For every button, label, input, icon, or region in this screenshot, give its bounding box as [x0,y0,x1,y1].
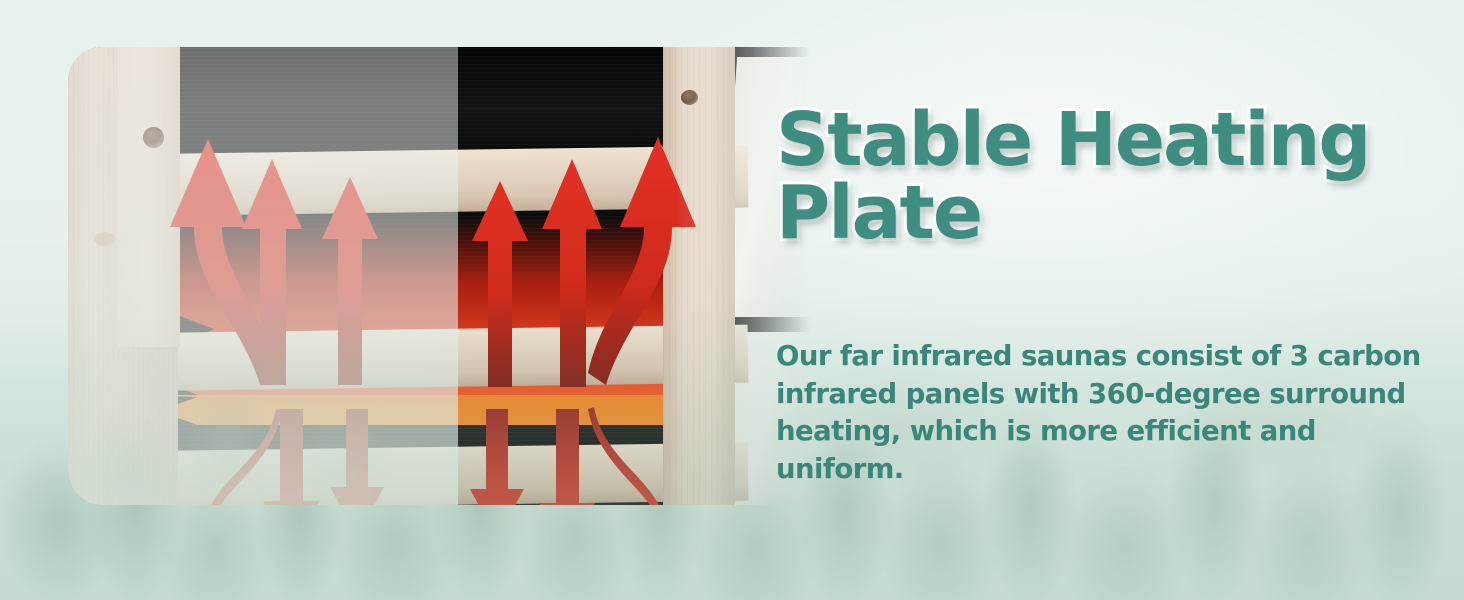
heat-arrow-up-4 [468,177,532,387]
heat-arrow-down-4 [466,409,528,505]
screw-icon-right [681,90,698,105]
body-description: Our far infrared saunas consist of 3 car… [776,338,1444,489]
heat-arrow-up-6 [588,133,718,385]
heat-arrow-up-2 [238,155,308,385]
wood-knot [94,232,116,246]
heat-arrow-down-6 [588,407,714,505]
heat-arrow-up-3 [318,173,382,385]
headline-line-2: Plate [776,177,1436,250]
sauna-wall-image [68,47,810,505]
page-title: Stable HeatingPlate [776,104,1436,249]
promo-banner: Stable HeatingPlate Our far infrared sau… [0,0,1464,600]
heat-arrow-down-3 [326,409,388,505]
heat-arrow-down-2 [258,409,324,505]
product-photo-panel [68,47,810,505]
